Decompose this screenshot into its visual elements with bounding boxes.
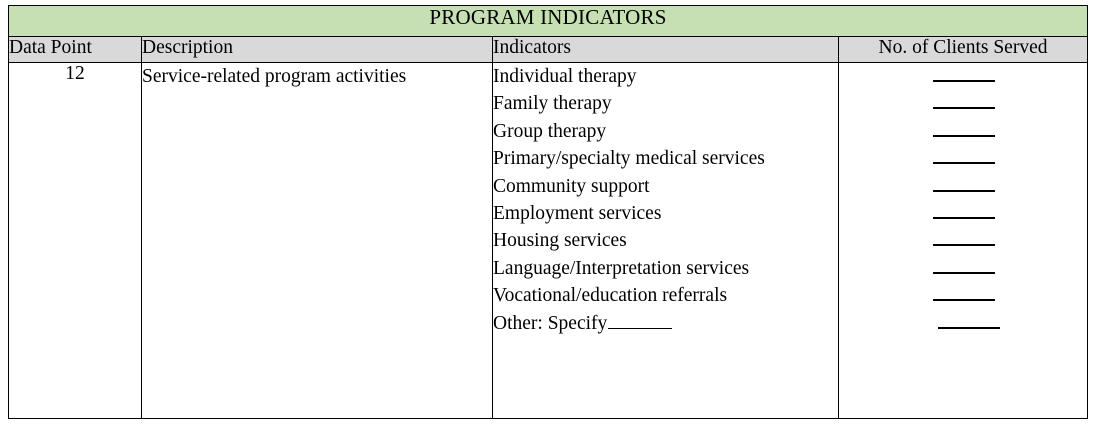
clients-served-blank-line[interactable] bbox=[933, 80, 995, 82]
clients-served-blank-line[interactable] bbox=[933, 299, 995, 301]
list-item: Employment services bbox=[493, 200, 838, 227]
list-item: Vocational/education referrals bbox=[493, 282, 838, 309]
indicator-list: Individual therapy Family therapy Group … bbox=[493, 63, 838, 337]
list-item: Language/Interpretation services bbox=[493, 255, 838, 282]
clients-served-blank-line[interactable] bbox=[938, 327, 1000, 329]
other-specify-input[interactable] bbox=[608, 312, 672, 329]
clients-served-blank-line[interactable] bbox=[933, 135, 995, 137]
clients-served-blank-line[interactable] bbox=[933, 190, 995, 192]
page-title: PROGRAM INDICATORS bbox=[9, 6, 1088, 37]
list-item: Housing services bbox=[493, 227, 838, 254]
list-item: Individual therapy bbox=[493, 63, 838, 90]
cell-description: Service-related program activities bbox=[142, 63, 493, 419]
document-page: PROGRAM INDICATORS Data Point Descriptio… bbox=[0, 0, 1095, 430]
table-title-row: PROGRAM INDICATORS bbox=[9, 6, 1088, 37]
clients-served-blank-line[interactable] bbox=[933, 272, 995, 274]
clients-served-blank-line[interactable] bbox=[933, 162, 995, 164]
clients-served-blank-line[interactable] bbox=[933, 217, 995, 219]
column-header-data-point: Data Point bbox=[9, 37, 142, 63]
list-item: Community support bbox=[493, 173, 838, 200]
other-specify-label: Other: Specify bbox=[493, 313, 607, 334]
list-item: Family therapy bbox=[493, 90, 838, 117]
list-item-other-specify: Other: Specify bbox=[493, 310, 838, 337]
clients-served-blank-line[interactable] bbox=[933, 244, 995, 246]
column-header-description: Description bbox=[142, 37, 493, 63]
table-header-row: Data Point Description Indicators No. of… bbox=[9, 37, 1088, 63]
cell-clients-served bbox=[839, 63, 1088, 419]
column-header-indicators: Indicators bbox=[493, 37, 839, 63]
table-row: 12 Service-related program activities In… bbox=[9, 63, 1088, 419]
clients-served-blank-lines bbox=[839, 63, 1087, 418]
program-indicators-table: PROGRAM INDICATORS Data Point Descriptio… bbox=[8, 5, 1088, 419]
column-header-clients-served: No. of Clients Served bbox=[839, 37, 1088, 63]
list-item: Primary/specialty medical services bbox=[493, 145, 838, 172]
list-item: Group therapy bbox=[493, 118, 838, 145]
clients-served-blank-line[interactable] bbox=[933, 107, 995, 109]
cell-data-point: 12 bbox=[9, 63, 142, 419]
cell-indicators: Individual therapy Family therapy Group … bbox=[493, 63, 839, 419]
